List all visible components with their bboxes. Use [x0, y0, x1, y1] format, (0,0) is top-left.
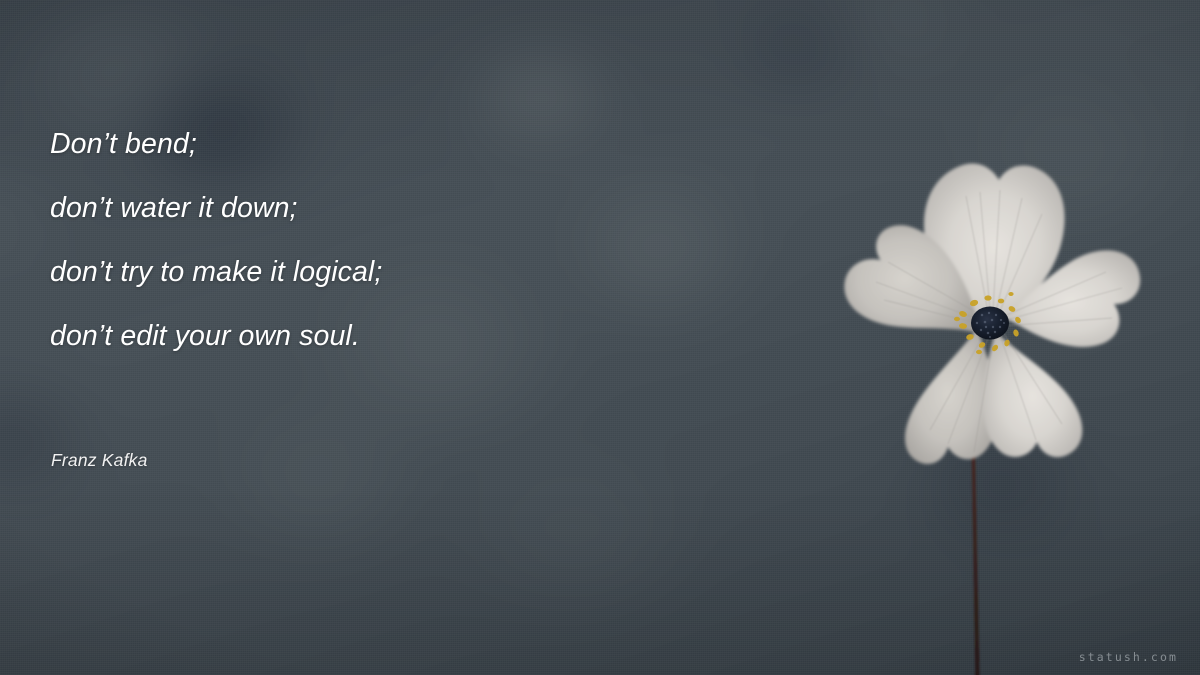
flower-petal-bottom-right: [983, 330, 1082, 457]
flower-center: [971, 307, 1009, 340]
quote-line-4: don’t edit your own soul.: [50, 304, 810, 368]
quote-author: Franz Kafka: [51, 450, 148, 471]
quote-text-block: Don’t bend; don’t water it down; don’t t…: [50, 112, 810, 368]
watermark-statush: statush.com: [1079, 650, 1178, 664]
quote-line-2: don’t water it down;: [50, 176, 810, 240]
quote-card: Don’t bend; don’t water it down; don’t t…: [0, 0, 1200, 675]
quote-line-1: Don’t bend;: [50, 112, 810, 176]
quote-line-3: don’t try to make it logical;: [50, 240, 810, 304]
